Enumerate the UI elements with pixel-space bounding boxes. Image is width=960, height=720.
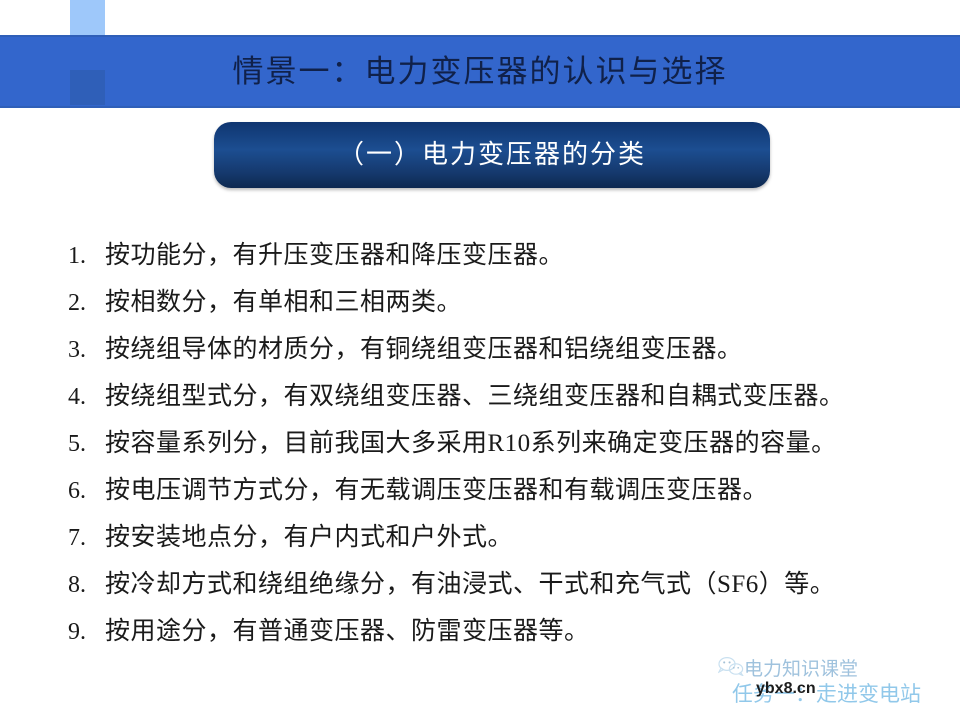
list-item-number: 9.: [68, 609, 105, 656]
list-item: 2.按相数分，有单相和三相两类。: [68, 279, 948, 326]
list-item-number: 6.: [68, 468, 105, 515]
list-item-text: 按容量系列分，目前我国大多采用R10系列来确定变压器的容量。: [105, 430, 837, 457]
list-item: 5.按容量系列分，目前我国大多采用R10系列来确定变压器的容量。: [68, 420, 948, 467]
list-item-number: 2.: [68, 280, 105, 327]
list-item-text: 按相数分，有单相和三相两类。: [105, 289, 462, 316]
classification-list: 1.按功能分，有升压变压器和降压变压器。 2.按相数分，有单相和三相两类。 3.…: [68, 232, 948, 655]
wechat-icon: [718, 656, 744, 676]
list-item-text: 按安装地点分，有户内式和户外式。: [105, 524, 513, 551]
watermark-url: ybx8.cn: [756, 680, 816, 698]
list-item-number: 3.: [68, 327, 105, 374]
list-item: 9.按用途分，有普通变压器、防雷变压器等。: [68, 608, 948, 655]
section-heading-label: （一）电力变压器的分类: [214, 122, 770, 188]
list-item-number: 7.: [68, 515, 105, 562]
page-title: 情景一：电力变压器的认识与选择: [0, 35, 960, 108]
list-item: 8.按冷却方式和绕组绝缘分，有油浸式、干式和充气式（SF6）等。: [68, 561, 948, 608]
section-heading-plaque: （一）电力变压器的分类: [214, 122, 770, 188]
list-item-number: 8.: [68, 562, 105, 609]
decorative-square-1: [70, 0, 105, 35]
slide-canvas: 情景一：电力变压器的认识与选择 （一）电力变压器的分类 1.按功能分，有升压变压…: [0, 0, 960, 720]
list-item-number: 1.: [68, 233, 105, 280]
list-item-text: 按电压调节方式分，有无载调压变压器和有载调压变压器。: [105, 477, 768, 504]
list-item: 7.按安装地点分，有户内式和户外式。: [68, 514, 948, 561]
watermark-channel-name: 电力知识课堂: [744, 654, 858, 681]
list-item-text: 按冷却方式和绕组绝缘分，有油浸式、干式和充气式（SF6）等。: [105, 571, 835, 598]
list-item-text: 按绕组型式分，有双绕组变压器、三绕组变压器和自耦式变压器。: [105, 383, 845, 410]
list-item: 1.按功能分，有升压变压器和降压变压器。: [68, 232, 948, 279]
list-item-text: 按功能分，有升压变压器和降压变压器。: [105, 242, 564, 269]
watermark: 电力知识课堂 任务一：走进变电站 ybx8.cn: [716, 652, 960, 714]
list-item-text: 按用途分，有普通变压器、防雷变压器等。: [105, 618, 590, 645]
list-item: 4.按绕组型式分，有双绕组变压器、三绕组变压器和自耦式变压器。: [68, 373, 948, 420]
list-item: 6.按电压调节方式分，有无载调压变压器和有载调压变压器。: [68, 467, 948, 514]
list-item-number: 4.: [68, 374, 105, 421]
list-item-text: 按绕组导体的材质分，有铜绕组变压器和铝绕组变压器。: [105, 336, 743, 363]
list-item: 3.按绕组导体的材质分，有铜绕组变压器和铝绕组变压器。: [68, 326, 948, 373]
list-item-number: 5.: [68, 421, 105, 468]
